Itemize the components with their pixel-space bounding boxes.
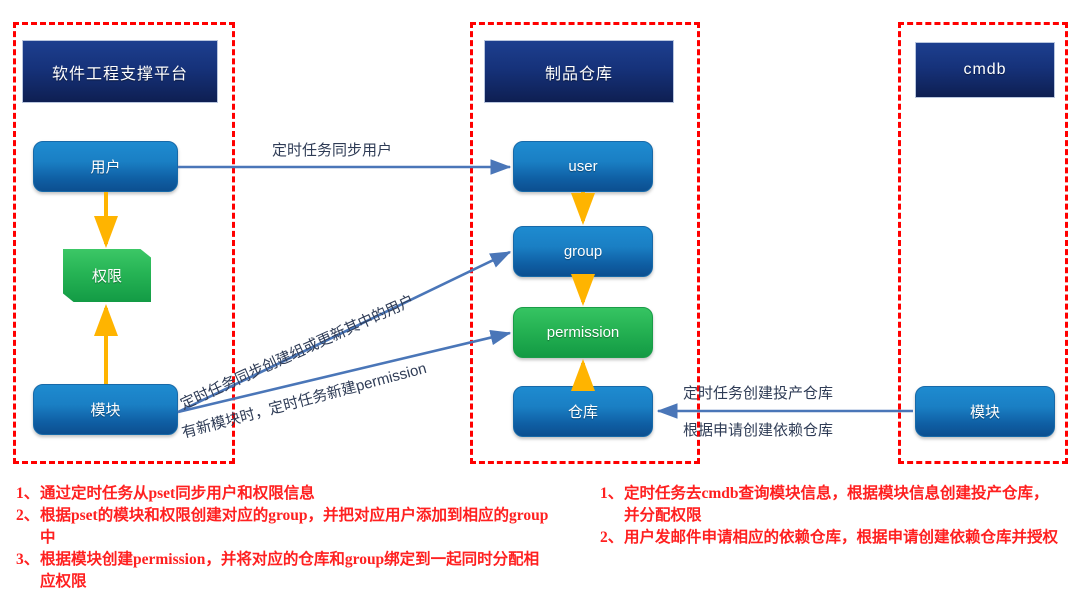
node-left-module-label: 模块 [90, 399, 120, 420]
note-text: 通过定时任务从pset同步用户和权限信息 [40, 483, 551, 505]
node-mid-user[interactable]: user [513, 141, 653, 192]
zone-left-header: 软件工程支撑平台 [22, 40, 218, 103]
note-number: 2、 [16, 505, 40, 549]
zone-right-header: cmdb [915, 42, 1055, 98]
node-mid-repo-label: 仓库 [568, 401, 598, 422]
zone-left-header-label: 软件工程支撑平台 [52, 60, 188, 84]
note-item: 2、 根据pset的模块和权限创建对应的group，并把对应用户添加到相应的gr… [16, 505, 551, 549]
edge-label-sync-user-text: 定时任务同步用户 [272, 142, 392, 159]
zone-middle-header: 制品仓库 [484, 40, 674, 103]
note-number: 1、 [16, 483, 40, 505]
note-text: 定时任务去cmdb查询模块信息，根据模块信息创建投产仓库，并分配权限 [624, 483, 1060, 527]
node-mid-permission[interactable]: permission [513, 307, 653, 358]
note-number: 2、 [600, 527, 624, 549]
notes-right: 1、 定时任务去cmdb查询模块信息，根据模块信息创建投产仓库，并分配权限 2、… [600, 483, 1060, 549]
note-text: 用户发邮件申请相应的依赖仓库，根据申请创建依赖仓库并授权 [624, 527, 1060, 549]
node-right-module-label: 模块 [970, 401, 1000, 422]
edge-label-sync-user: 定时任务同步用户 [272, 139, 392, 160]
node-left-permission-label: 权限 [92, 265, 122, 286]
edge-label-create-prod-repo: 定时任务创建投产仓库 [683, 382, 833, 403]
node-mid-group[interactable]: group [513, 226, 653, 277]
note-item: 2、 用户发邮件申请相应的依赖仓库，根据申请创建依赖仓库并授权 [600, 527, 1060, 549]
note-text: 根据pset的模块和权限创建对应的group，并把对应用户添加到相应的group… [40, 505, 551, 549]
node-mid-permission-label: permission [547, 324, 620, 341]
edge-label-create-prod-repo-text: 定时任务创建投产仓库 [683, 385, 833, 402]
edge-label-create-dep-repo-text: 根据申请创建依赖仓库 [683, 422, 833, 439]
note-item: 1、 通过定时任务从pset同步用户和权限信息 [16, 483, 551, 505]
note-item: 3、 根据模块创建permission，并将对应的仓库和group绑定到一起同时… [16, 549, 551, 593]
note-number: 3、 [16, 549, 40, 593]
zone-right-header-label: cmdb [963, 61, 1006, 79]
edge-label-create-dep-repo: 根据申请创建依赖仓库 [683, 419, 833, 440]
zone-middle-header-label: 制品仓库 [545, 60, 613, 84]
node-left-permission[interactable]: 权限 [63, 249, 151, 302]
node-mid-repo[interactable]: 仓库 [513, 386, 653, 437]
node-left-user-label: 用户 [90, 156, 120, 177]
node-left-module[interactable]: 模块 [33, 384, 178, 435]
note-number: 1、 [600, 483, 624, 527]
note-item: 1、 定时任务去cmdb查询模块信息，根据模块信息创建投产仓库，并分配权限 [600, 483, 1060, 527]
node-mid-user-label: user [568, 158, 597, 175]
node-right-module[interactable]: 模块 [915, 386, 1055, 437]
notes-left: 1、 通过定时任务从pset同步用户和权限信息 2、 根据pset的模块和权限创… [16, 483, 551, 593]
node-mid-group-label: group [564, 243, 602, 260]
note-text: 根据模块创建permission，并将对应的仓库和group绑定到一起同时分配相… [40, 549, 551, 593]
diagram-canvas: 软件工程支撑平台 制品仓库 cmdb 用户 权限 模块 user group p… [0, 0, 1080, 608]
node-left-user[interactable]: 用户 [33, 141, 178, 192]
